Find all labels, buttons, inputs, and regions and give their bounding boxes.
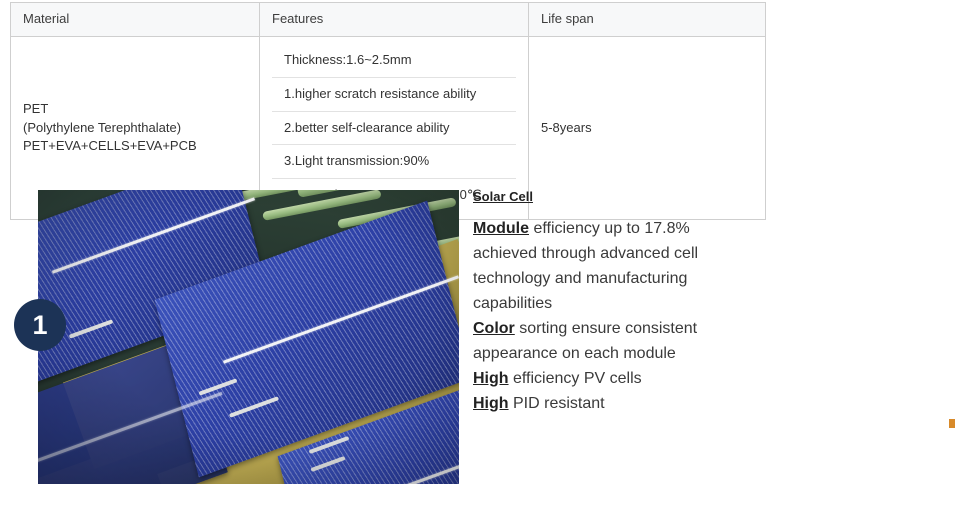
spec-table-header-row: Material Features Life span <box>11 3 766 37</box>
solar-cell-info-panel: Solar Cell Module efficiency up to 17.8%… <box>473 189 773 416</box>
feature-item-thickness: Thickness:1.6~2.5mm <box>272 44 516 77</box>
column-header-features: Features <box>260 3 529 37</box>
step-number-badge: 1 <box>14 299 66 351</box>
info-panel-body: Module efficiency up to 17.8% achieved t… <box>473 216 773 416</box>
info-line: High efficiency PV cells <box>473 366 773 391</box>
info-line-text: efficiency up to 17.8% <box>529 220 690 237</box>
feature-item-light-transmission: 3.Light transmission:90% <box>272 145 516 179</box>
info-line-text: sorting ensure consistent <box>515 320 697 337</box>
info-line-emphasis: High <box>473 370 509 387</box>
feature-item-self-clearance: 2.better self-clearance ability <box>272 111 516 145</box>
info-line: achieved through advanced cell <box>473 241 773 266</box>
info-line: technology and manufacturing <box>473 266 773 291</box>
info-line-text: technology and manufacturing <box>473 270 687 287</box>
info-line-text: efficiency PV cells <box>509 370 642 387</box>
page-edge-marker <box>949 419 955 428</box>
feature-row: 2.better self-clearance ability <box>272 111 516 145</box>
solar-cell-production-photo <box>38 190 459 484</box>
product-showcase-section: 1 Solar Cell Module efficiency up to 17.… <box>0 186 955 506</box>
info-line-emphasis: Module <box>473 220 529 237</box>
info-line-text: achieved through advanced cell <box>473 245 698 262</box>
spec-table-head: Material Features Life span <box>11 3 766 37</box>
column-header-material: Material <box>11 3 260 37</box>
photo-scene <box>38 190 459 484</box>
info-line-emphasis: Color <box>473 320 515 337</box>
feature-row: 1.higher scratch resistance ability <box>272 77 516 111</box>
info-line: High PID resistant <box>473 391 773 416</box>
info-line-emphasis: High <box>473 395 509 412</box>
info-line: Module efficiency up to 17.8% <box>473 216 773 241</box>
feature-row: 3.Light transmission:90% <box>272 145 516 179</box>
info-line: appearance on each module <box>473 341 773 366</box>
info-line-text: PID resistant <box>509 395 605 412</box>
info-line-text: capabilities <box>473 295 552 312</box>
info-line-text: appearance on each module <box>473 345 676 362</box>
info-line: Color sorting ensure consistent <box>473 316 773 341</box>
column-header-life-span: Life span <box>529 3 766 37</box>
feature-item-scratch-resistance: 1.higher scratch resistance ability <box>272 77 516 111</box>
info-panel-heading: Solar Cell <box>473 189 773 205</box>
info-line: capabilities <box>473 291 773 316</box>
feature-row: Thickness:1.6~2.5mm <box>272 44 516 77</box>
